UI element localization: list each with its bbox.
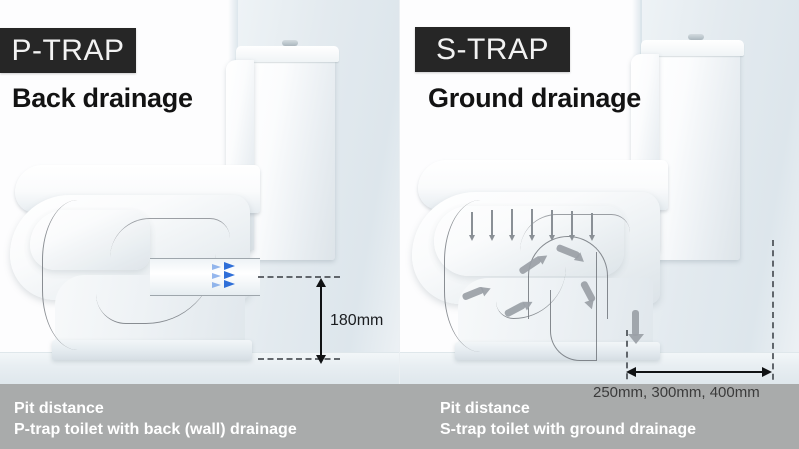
caption-s-trap-line1: Pit distance xyxy=(440,400,530,418)
flow-arrow-3 xyxy=(224,280,235,288)
back-outlet-pipe xyxy=(150,258,260,296)
flow-arrow-5 xyxy=(212,273,221,279)
dim-lower-reference-line xyxy=(258,358,340,360)
dim-arrowhead-up xyxy=(316,278,326,287)
caption-p-trap-line2: P-trap toilet with back (wall) drainage xyxy=(14,421,297,439)
dim-label-180mm: 180mm xyxy=(330,312,383,330)
rim-jet-5 xyxy=(551,210,553,236)
rim-jet-2 xyxy=(491,210,493,236)
dim-horizontal-arrow xyxy=(635,371,763,373)
rim-jet-7 xyxy=(591,213,593,236)
panel-s-trap: S-TRAP Ground drainage Pit distance S-tr… xyxy=(400,0,799,449)
rim-jet-1 xyxy=(471,212,473,236)
flow-arrow-1 xyxy=(224,262,235,270)
badge-s-trap: S-TRAP xyxy=(415,27,570,72)
flow-arrow-4 xyxy=(212,264,221,270)
rim-jet-4 xyxy=(531,209,533,236)
rim-jet-6 xyxy=(571,211,573,236)
s-trap-downpipe xyxy=(596,252,599,360)
bowl-contour-line-3 xyxy=(110,218,230,259)
dim-upper-reference-line xyxy=(258,276,340,278)
dim-outlet-centre-line xyxy=(626,330,628,390)
flush-button-icon xyxy=(282,40,298,46)
dim-wall-reference-line xyxy=(772,240,774,390)
badge-p-trap-label: P-TRAP xyxy=(11,34,124,68)
subhead-ground-drainage: Ground drainage xyxy=(428,83,641,114)
flow-arrowhead-down xyxy=(628,334,644,344)
flow-arrow-2 xyxy=(224,271,235,279)
flow-arrow-6 xyxy=(212,282,221,288)
dim-arrowhead-down xyxy=(316,355,326,364)
caption-s-trap-line2: S-trap toilet with ground drainage xyxy=(440,421,696,439)
dim-arrowhead-left xyxy=(626,367,636,377)
panel-p-trap: 180mm P-TRAP Back drainage Pit distance … xyxy=(0,0,400,449)
caption-bar-p-trap: Pit distance P-trap toilet with back (wa… xyxy=(0,384,400,449)
badge-s-trap-label: S-TRAP xyxy=(436,33,549,67)
rim-jet-3 xyxy=(511,209,513,236)
diagram-canvas: 180mm P-TRAP Back drainage Pit distance … xyxy=(0,0,799,449)
subhead-back-drainage: Back drainage xyxy=(12,83,193,114)
caption-p-trap-line1: Pit distance xyxy=(14,400,104,418)
dim-label-pit-distance: 250mm, 300mm, 400mm xyxy=(593,384,760,401)
badge-p-trap: P-TRAP xyxy=(0,28,136,73)
dim-arrowhead-right xyxy=(762,367,772,377)
flow-arrow-down xyxy=(632,310,639,336)
flush-button-icon xyxy=(688,34,704,40)
dim-vertical-arrow xyxy=(320,286,322,356)
cistern-tank xyxy=(240,55,335,260)
